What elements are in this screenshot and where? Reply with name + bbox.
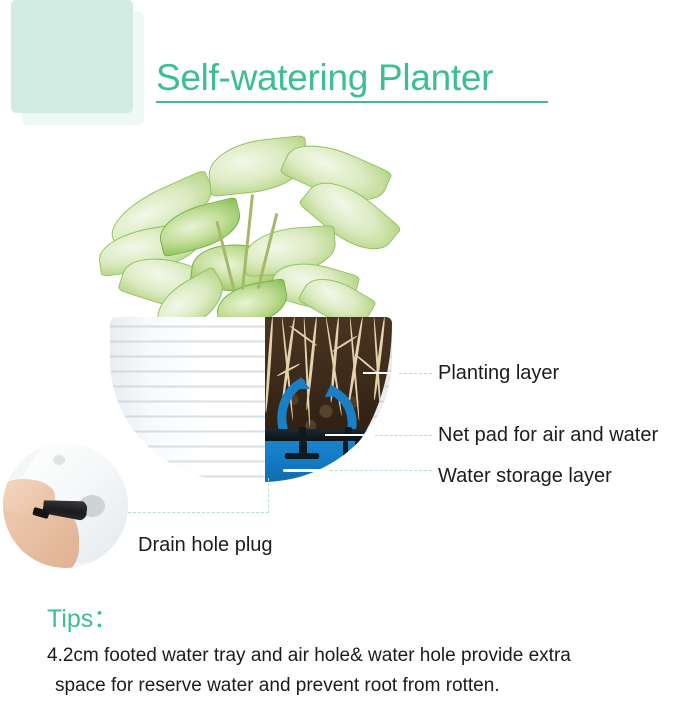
tips-heading: Tips： (47, 604, 118, 634)
tips-line-2: space for reserve water and prevent root… (55, 674, 500, 698)
leader-line-water-storage (330, 470, 432, 471)
soil-layer (265, 317, 392, 435)
callout-net-pad: Net pad for air and water (438, 423, 658, 447)
plant-foliage (96, 132, 406, 347)
infographic-page: Self-watering Planter (0, 0, 679, 705)
page-title: Self-watering Planter (156, 56, 493, 100)
title-underline (156, 101, 548, 103)
decorative-square-front (11, 0, 133, 113)
leader-line-water-storage-solid (292, 469, 330, 471)
leader-line-drain-plug-horizontal (128, 512, 269, 513)
wick-tube (343, 441, 348, 463)
drain-plug-inset-photo (3, 443, 128, 568)
wick-tube (285, 453, 319, 459)
pot-cutaway-section (265, 317, 392, 482)
leader-line-drain-plug-vertical (268, 478, 269, 513)
callout-drain-hole-plug: Drain hole plug (138, 533, 273, 557)
water-storage-layer (265, 441, 392, 482)
leader-line-planting-layer (399, 373, 432, 374)
leader-line-net-pad (375, 435, 432, 436)
leader-line-planting-layer-solid (363, 372, 399, 374)
callout-water-storage: Water storage layer (438, 464, 612, 488)
air-hole (53, 455, 65, 465)
wick-tube (355, 441, 360, 463)
tips-line-1: 4.2cm footed water tray and air hole& wa… (47, 644, 571, 668)
product-illustration (96, 132, 406, 482)
pot-body (110, 317, 392, 482)
planter-pot (110, 317, 392, 482)
leader-line-net-pad-solid (325, 434, 375, 436)
callout-planting-layer: Planting layer (438, 361, 559, 385)
